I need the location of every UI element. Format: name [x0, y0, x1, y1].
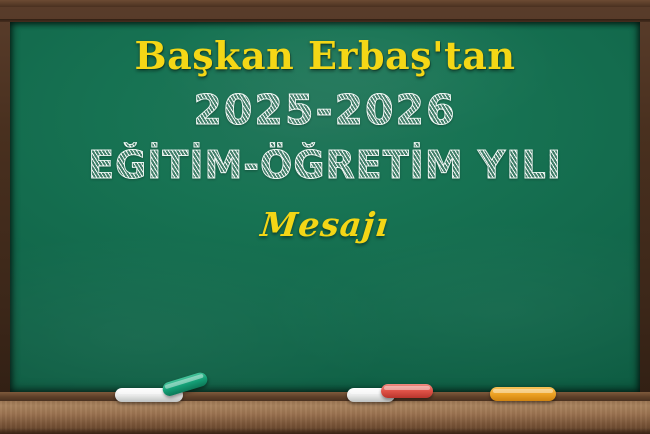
headline-baskan-erbastan: Başkan Erbaş'tan: [135, 36, 516, 76]
mesaji-script-text: Mesajı: [259, 205, 391, 244]
chalk-orange-icon: [490, 387, 556, 401]
chalkboard-surface: Başkan Erbaş'tan 2025-2026 EĞİTİM-ÖĞRETİ…: [10, 22, 640, 392]
frame-top-highlight: [0, 0, 650, 7]
academic-year-text: 2025-2026: [193, 86, 456, 134]
ledge-bottom-shadow: [0, 428, 650, 434]
chalkboard-poster: Başkan Erbaş'tan 2025-2026 EĞİTİM-ÖĞRETİ…: [0, 0, 650, 434]
education-year-label: EĞİTİM-ÖĞRETİM YILI: [88, 143, 562, 187]
chalk-red-icon: [381, 384, 433, 398]
chalkboard-text-block: Başkan Erbaş'tan 2025-2026 EĞİTİM-ÖĞRETİ…: [10, 22, 640, 392]
